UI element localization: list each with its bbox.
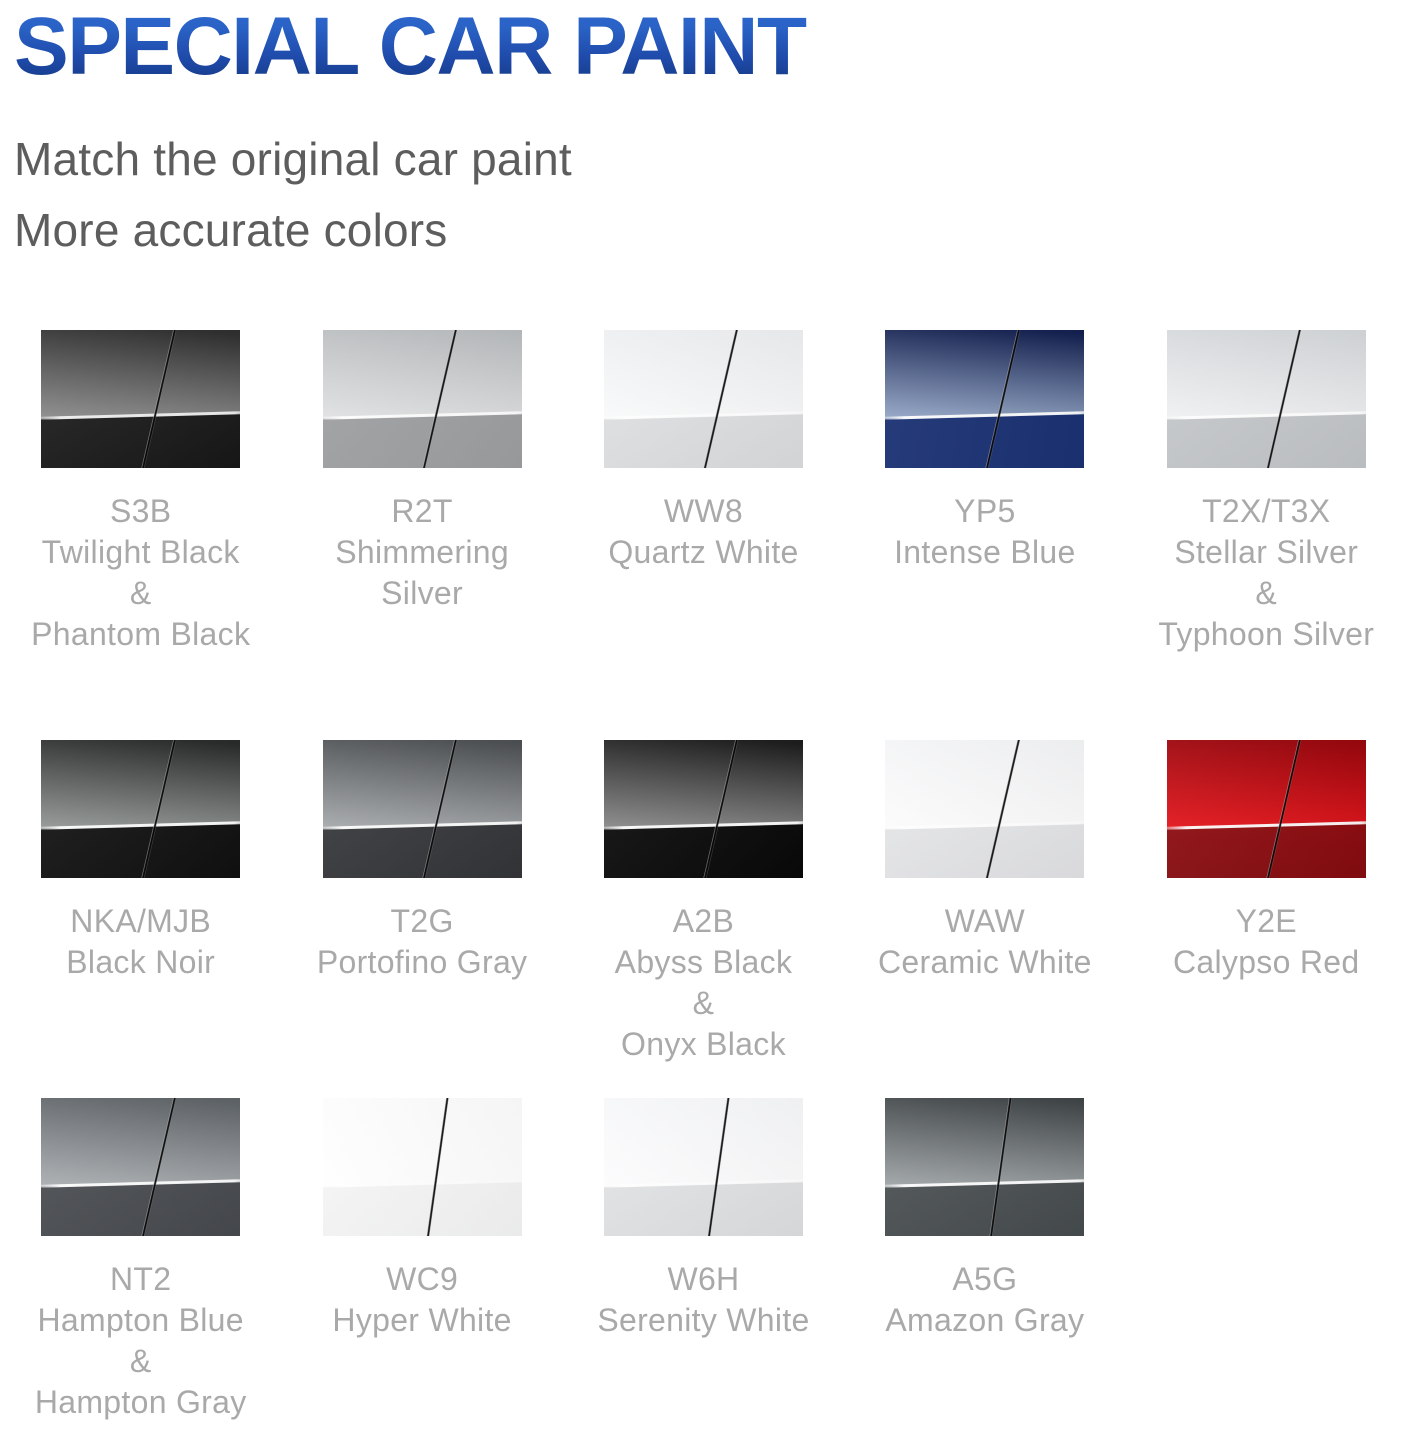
paint-caption: YP5Intense Blue [894, 491, 1076, 573]
car-panel-swatch-image [323, 1098, 522, 1236]
paint-caption: W6HSerenity White [597, 1259, 809, 1341]
paint-name-line-1: Black Noir [66, 942, 215, 983]
paint-code: A5G [885, 1259, 1084, 1300]
lower-body-panel [604, 822, 803, 878]
paint-caption: WAWCeramic White [878, 901, 1092, 983]
paint-caption: T2X/T3XStellar Silver&Typhoon Silver [1158, 491, 1374, 655]
paint-swatch-cell-ww8[interactable]: WW8Quartz White [563, 330, 844, 573]
paint-code: YP5 [894, 491, 1076, 532]
paint-name-line-1: Ceramic White [878, 942, 1092, 983]
swatch-row: NKA/MJBBlack NoirT2GPortofino GrayA2BAby… [0, 740, 1407, 1098]
lower-body-panel [41, 412, 240, 468]
paint-code: WC9 [332, 1259, 511, 1300]
paint-name-line-1: Amazon Gray [885, 1300, 1084, 1341]
paint-code: Y2E [1173, 901, 1360, 942]
car-panel-swatch-image [41, 330, 240, 468]
paint-name-line-1: Quartz White [608, 532, 798, 573]
paint-name-line-2: & [35, 1341, 247, 1382]
paint-code: W6H [597, 1259, 809, 1300]
paint-name-line-3: Phantom Black [31, 614, 250, 655]
paint-caption: A2BAbyss Black&Onyx Black [615, 901, 793, 1065]
paint-swatch-cell-a5g[interactable]: A5GAmazon Gray [844, 1098, 1125, 1341]
lower-body-panel [41, 1180, 240, 1236]
paint-name-line-1: Serenity White [597, 1300, 809, 1341]
paint-caption: Y2ECalypso Red [1173, 901, 1360, 983]
paint-code: T2G [317, 901, 528, 942]
paint-code: T2X/T3X [1158, 491, 1374, 532]
paint-caption: T2GPortofino Gray [317, 901, 528, 983]
lower-body-panel [885, 1180, 1084, 1236]
car-panel-swatch-image [885, 740, 1084, 878]
car-panel-swatch-image [604, 1098, 803, 1236]
lower-body-panel [1167, 822, 1366, 878]
paint-code: WW8 [608, 491, 798, 532]
paint-name-line-2: Silver [335, 573, 509, 614]
car-panel-swatch-image [323, 330, 522, 468]
swatch-row: S3BTwilight Black&Phantom BlackR2TShimme… [0, 330, 1407, 740]
paint-code: NT2 [35, 1259, 247, 1300]
paint-caption: R2TShimmeringSilver [335, 491, 509, 614]
page-title: SPECIAL CAR PAINT [14, 0, 1394, 92]
lower-body-panel [323, 412, 522, 468]
paint-name-line-1: Stellar Silver [1158, 532, 1374, 573]
paint-name-line-2: & [615, 983, 793, 1024]
paint-swatch-cell-nka-mjb[interactable]: NKA/MJBBlack Noir [0, 740, 281, 983]
lower-body-panel [885, 412, 1084, 468]
paint-caption: NKA/MJBBlack Noir [66, 901, 215, 983]
lower-body-panel [885, 822, 1084, 878]
paint-caption: NT2Hampton Blue&Hampton Gray [35, 1259, 247, 1423]
special-car-paint-page: SPECIAL CAR PAINT Match the original car… [0, 0, 1407, 1431]
car-panel-swatch-image [885, 330, 1084, 468]
paint-swatch-cell-a2b[interactable]: A2BAbyss Black&Onyx Black [563, 740, 844, 1065]
paint-name-line-2: & [31, 573, 250, 614]
subtitle-line-1: Match the original car paint [14, 124, 1394, 195]
car-panel-swatch-image [604, 330, 803, 468]
paint-swatch-grid: S3BTwilight Black&Phantom BlackR2TShimme… [0, 330, 1407, 1431]
car-panel-swatch-image [41, 1098, 240, 1236]
lower-body-panel [41, 822, 240, 878]
paint-name-line-3: Typhoon Silver [1158, 614, 1374, 655]
paint-name-line-3: Hampton Gray [35, 1382, 247, 1423]
paint-name-line-1: Hyper White [332, 1300, 511, 1341]
paint-swatch-cell-t2g[interactable]: T2GPortofino Gray [281, 740, 562, 983]
paint-swatch-cell-r2t[interactable]: R2TShimmeringSilver [281, 330, 562, 614]
car-panel-swatch-image [604, 740, 803, 878]
paint-swatch-cell-yp5[interactable]: YP5Intense Blue [844, 330, 1125, 573]
paint-caption: S3BTwilight Black&Phantom Black [31, 491, 250, 655]
paint-caption: A5GAmazon Gray [885, 1259, 1084, 1341]
page-header: SPECIAL CAR PAINT Match the original car… [14, 0, 1394, 266]
paint-name-line-1: Hampton Blue [35, 1300, 247, 1341]
car-panel-swatch-image [41, 740, 240, 878]
paint-name-line-1: Portofino Gray [317, 942, 528, 983]
lower-body-panel [604, 1180, 803, 1236]
paint-name-line-1: Intense Blue [894, 532, 1076, 573]
paint-swatch-cell-w6h[interactable]: W6HSerenity White [563, 1098, 844, 1341]
lower-body-panel [323, 822, 522, 878]
car-panel-swatch-image [885, 1098, 1084, 1236]
paint-swatch-cell-t2x-t3x[interactable]: T2X/T3XStellar Silver&Typhoon Silver [1126, 330, 1407, 655]
lower-body-panel [604, 412, 803, 468]
lower-body-panel [323, 1180, 522, 1236]
paint-swatch-cell-nt2[interactable]: NT2Hampton Blue&Hampton Gray [0, 1098, 281, 1423]
paint-code: NKA/MJB [66, 901, 215, 942]
paint-swatch-cell-s3b[interactable]: S3BTwilight Black&Phantom Black [0, 330, 281, 655]
paint-caption: WC9Hyper White [332, 1259, 511, 1341]
paint-code: S3B [31, 491, 250, 532]
car-panel-swatch-image [1167, 330, 1366, 468]
paint-name-line-1: Shimmering [335, 532, 509, 573]
paint-name-line-3: Onyx Black [615, 1024, 793, 1065]
paint-name-line-1: Calypso Red [1173, 942, 1360, 983]
paint-caption: WW8Quartz White [608, 491, 798, 573]
paint-name-line-1: Twilight Black [31, 532, 250, 573]
car-panel-swatch-image [1167, 740, 1366, 878]
lower-body-panel [1167, 412, 1366, 468]
swatch-row: NT2Hampton Blue&Hampton GrayWC9Hyper Whi… [0, 1098, 1407, 1431]
car-panel-swatch-image [323, 740, 522, 878]
paint-swatch-cell-y2e[interactable]: Y2ECalypso Red [1126, 740, 1407, 983]
paint-code: A2B [615, 901, 793, 942]
paint-name-line-2: & [1158, 573, 1374, 614]
subtitle-line-2: More accurate colors [14, 195, 1394, 266]
paint-swatch-cell-waw[interactable]: WAWCeramic White [844, 740, 1125, 983]
paint-code: R2T [335, 491, 509, 532]
paint-code: WAW [878, 901, 1092, 942]
paint-name-line-1: Abyss Black [615, 942, 793, 983]
paint-swatch-cell-wc9[interactable]: WC9Hyper White [281, 1098, 562, 1341]
